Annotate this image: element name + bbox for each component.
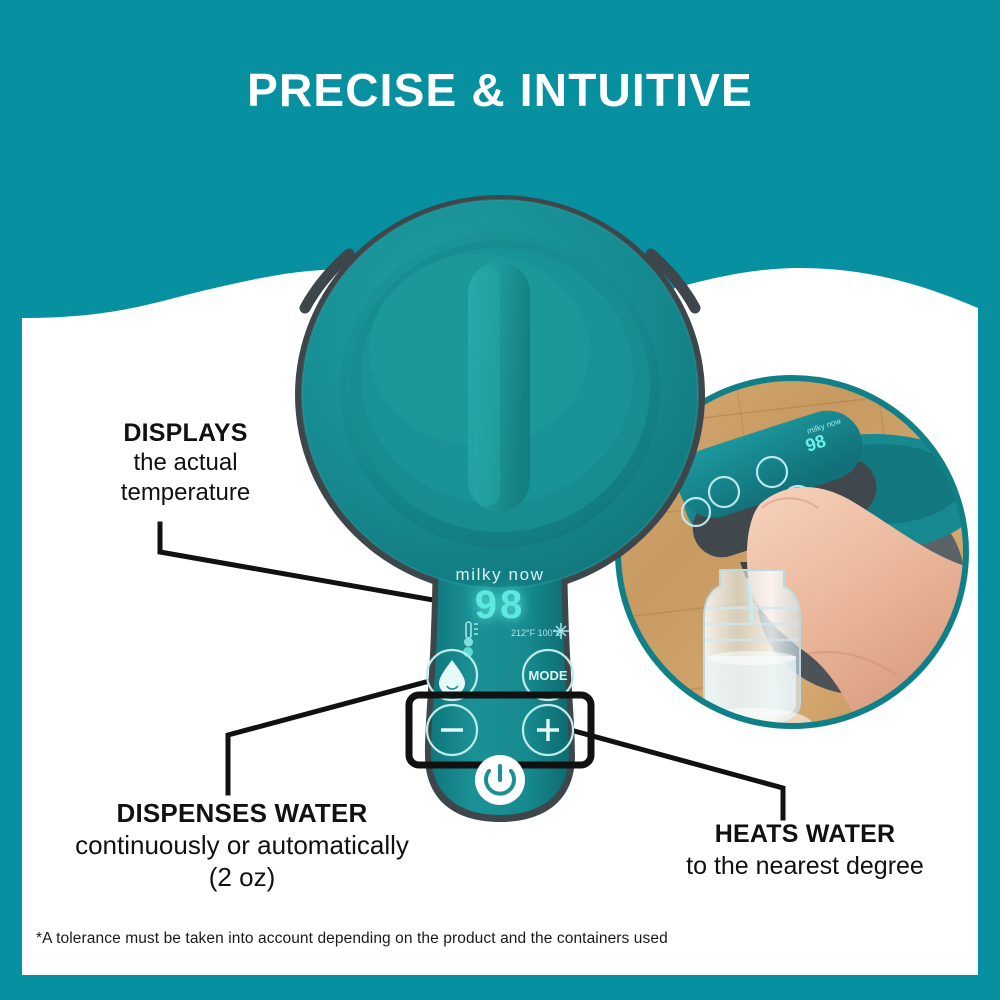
callout-dispenses-line2: continuously or automatically (22, 829, 462, 861)
power-button (475, 755, 525, 805)
callout-heats-line2: to the nearest degree (620, 850, 990, 882)
callout-dispenses-line3: (2 oz) (22, 861, 462, 893)
callout-dispenses-heading: DISPENSES WATER (22, 797, 462, 829)
footnote: *A tolerance must be taken into account … (36, 930, 668, 948)
scale-label: 212°F 100°C (511, 628, 563, 638)
callout-displays-heading: DISPLAYS (58, 418, 313, 448)
callout-displays-line3: temperature (58, 478, 313, 508)
callout-displays-line2: the actual (58, 448, 313, 478)
device-illustration: milky now 98 212°F 100°C MODE (265, 190, 735, 830)
callout-heats-heading: HEATS WATER (620, 818, 990, 850)
callout-displays: DISPLAYS the actual temperature (58, 418, 313, 508)
temperature-display: 98 (475, 583, 526, 627)
infographic-page: PRECISE & INTUITIVE (0, 0, 1000, 1000)
callout-heats: HEATS WATER to the nearest degree (620, 818, 990, 882)
callout-dispenses: DISPENSES WATER continuously or automati… (22, 797, 462, 893)
svg-text:MODE: MODE (529, 668, 568, 683)
brand-label: milky now (455, 565, 544, 584)
